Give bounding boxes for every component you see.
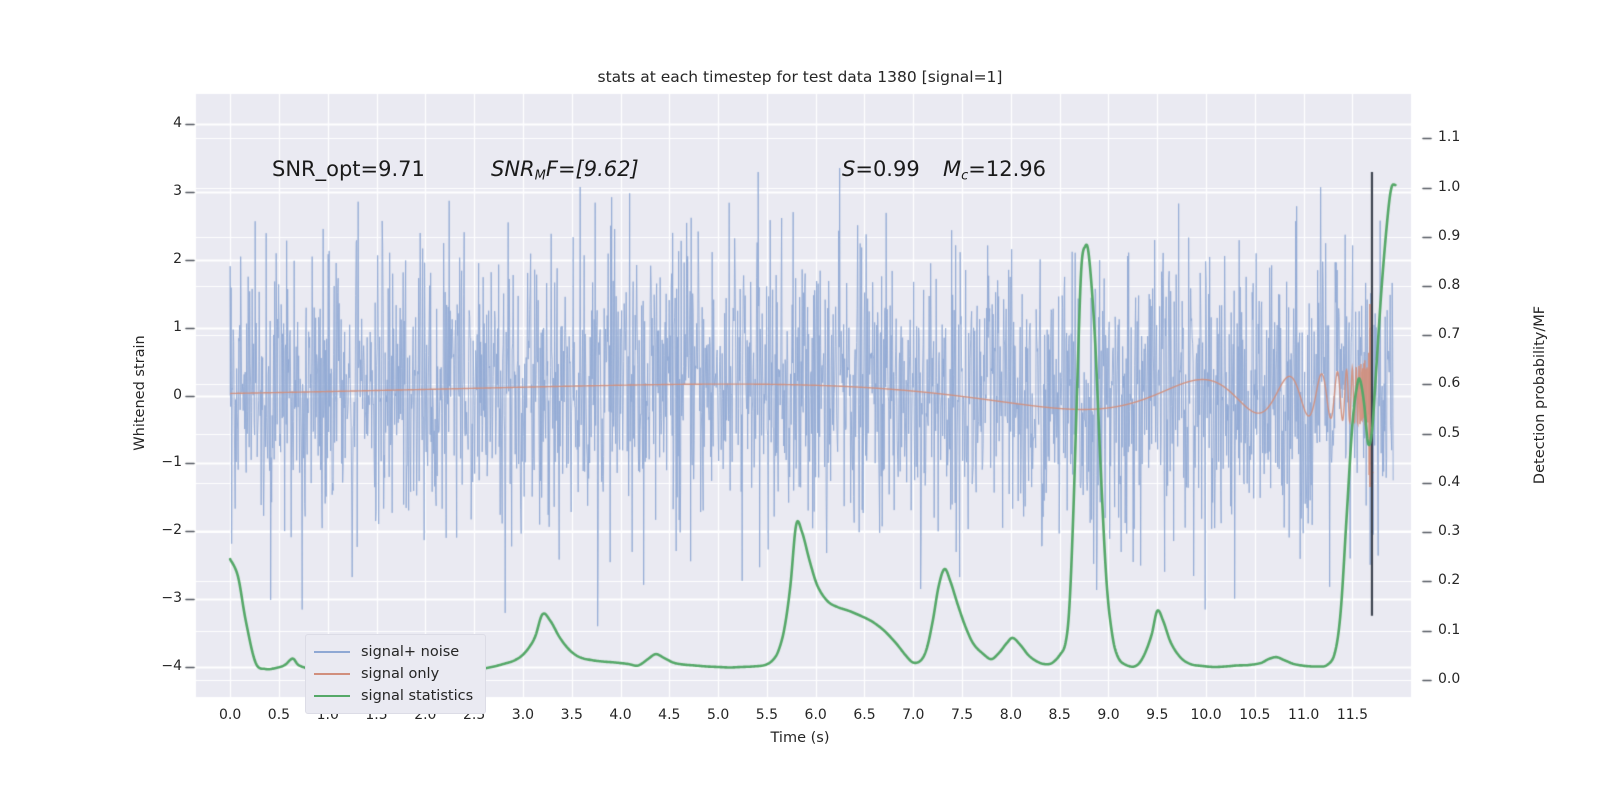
y-tick-label-left: −3 [161, 590, 182, 606]
y-axis-label-right-text: Detection probability/MF [1532, 250, 1548, 540]
annotation-snr-mf-prefix: SNR [491, 157, 535, 181]
y-tick-label-left: −4 [161, 658, 182, 674]
x-tick-label: 8.0 [1000, 707, 1022, 723]
plot-canvas [0, 0, 1600, 800]
x-tick-label: 6.5 [853, 707, 875, 723]
legend-color-swatch [314, 695, 350, 697]
y-tick-label-right: 0.2 [1438, 572, 1460, 588]
annotation-snr-mf-rest: F=[9.62] [546, 157, 639, 181]
chart-legend: signal+ noisesignal onlysignal statistic… [305, 634, 486, 714]
x-tick-label: 11.0 [1288, 707, 1319, 723]
annotation-chirp-mass: Mc=12.96 [943, 157, 1046, 184]
x-tick-label: 5.5 [756, 707, 778, 723]
annotation-snr-mf-subscript: M [535, 169, 546, 184]
annotation-s-symbol: S [842, 157, 855, 181]
y-tick-label-left: −1 [161, 454, 182, 470]
y-tick-label-right: 1.1 [1438, 129, 1460, 145]
x-tick-label: 0.5 [268, 707, 290, 723]
x-tick-label: 4.5 [658, 707, 680, 723]
annotation-snr-mf: SNRMF=[9.62] [491, 157, 639, 184]
y-axis-label-left: Whitened strain [128, 273, 152, 513]
x-tick-label: 7.5 [951, 707, 973, 723]
legend-item[interactable]: signal statistics [314, 685, 473, 707]
y-tick-label-right: 0.5 [1438, 425, 1460, 441]
y-tick-label-right: 0.7 [1438, 326, 1460, 342]
legend-color-swatch [314, 673, 350, 675]
y-axis-label-left-text: Whitened strain [132, 273, 148, 513]
x-tick-label: 9.5 [1146, 707, 1168, 723]
legend-item[interactable]: signal only [314, 663, 473, 685]
x-tick-label: 10.5 [1239, 707, 1270, 723]
x-tick-label: 9.0 [1097, 707, 1119, 723]
y-tick-label-left: 2 [173, 251, 182, 267]
x-tick-label: 3.5 [561, 707, 583, 723]
x-tick-label: 7.0 [902, 707, 924, 723]
y-tick-label-right: 0.9 [1438, 228, 1460, 244]
y-tick-label-right: 1.0 [1438, 179, 1460, 195]
y-tick-label-left: 4 [173, 115, 182, 131]
y-tick-label-right: 0.6 [1438, 375, 1460, 391]
y-tick-label-left: 1 [173, 319, 182, 335]
y-tick-label-right: 0.4 [1438, 474, 1460, 490]
x-tick-label: 11.5 [1337, 707, 1368, 723]
figure-container: stats at each timestep for test data 138… [0, 0, 1600, 800]
annotation-snr-opt: SNR_opt=9.71 [272, 157, 425, 181]
x-tick-label: 8.5 [1049, 707, 1071, 723]
legend-item-label: signal+ noise [361, 644, 459, 660]
legend-item-label: signal only [361, 666, 439, 682]
x-tick-label: 0.0 [219, 707, 241, 723]
x-axis-label: Time (s) [0, 730, 1600, 746]
annotation-s-value: =0.99 [855, 157, 919, 181]
legend-item-label: signal statistics [361, 688, 473, 704]
x-tick-label: 6.0 [805, 707, 827, 723]
annotation-mc-symbol: M [943, 157, 961, 181]
y-tick-label-right: 0.8 [1438, 277, 1460, 293]
y-tick-label-right: 0.3 [1438, 523, 1460, 539]
x-tick-label: 10.0 [1190, 707, 1221, 723]
y-tick-label-left: 3 [173, 183, 182, 199]
y-tick-label-right: 0.0 [1438, 671, 1460, 687]
y-tick-label-right: 0.1 [1438, 622, 1460, 638]
annotation-detection-statistic: S=0.99 [842, 157, 920, 181]
page-title: stats at each timestep for test data 138… [0, 68, 1600, 86]
annotation-mc-value: =12.96 [968, 157, 1046, 181]
y-axis-label-right: Detection probability/MF [1528, 250, 1552, 540]
legend-color-swatch [314, 651, 350, 653]
legend-item[interactable]: signal+ noise [314, 641, 473, 663]
y-tick-label-left: −2 [161, 522, 182, 538]
x-tick-label: 3.0 [512, 707, 534, 723]
x-tick-label: 4.0 [609, 707, 631, 723]
y-tick-label-left: 0 [173, 387, 182, 403]
x-tick-label: 5.0 [707, 707, 729, 723]
